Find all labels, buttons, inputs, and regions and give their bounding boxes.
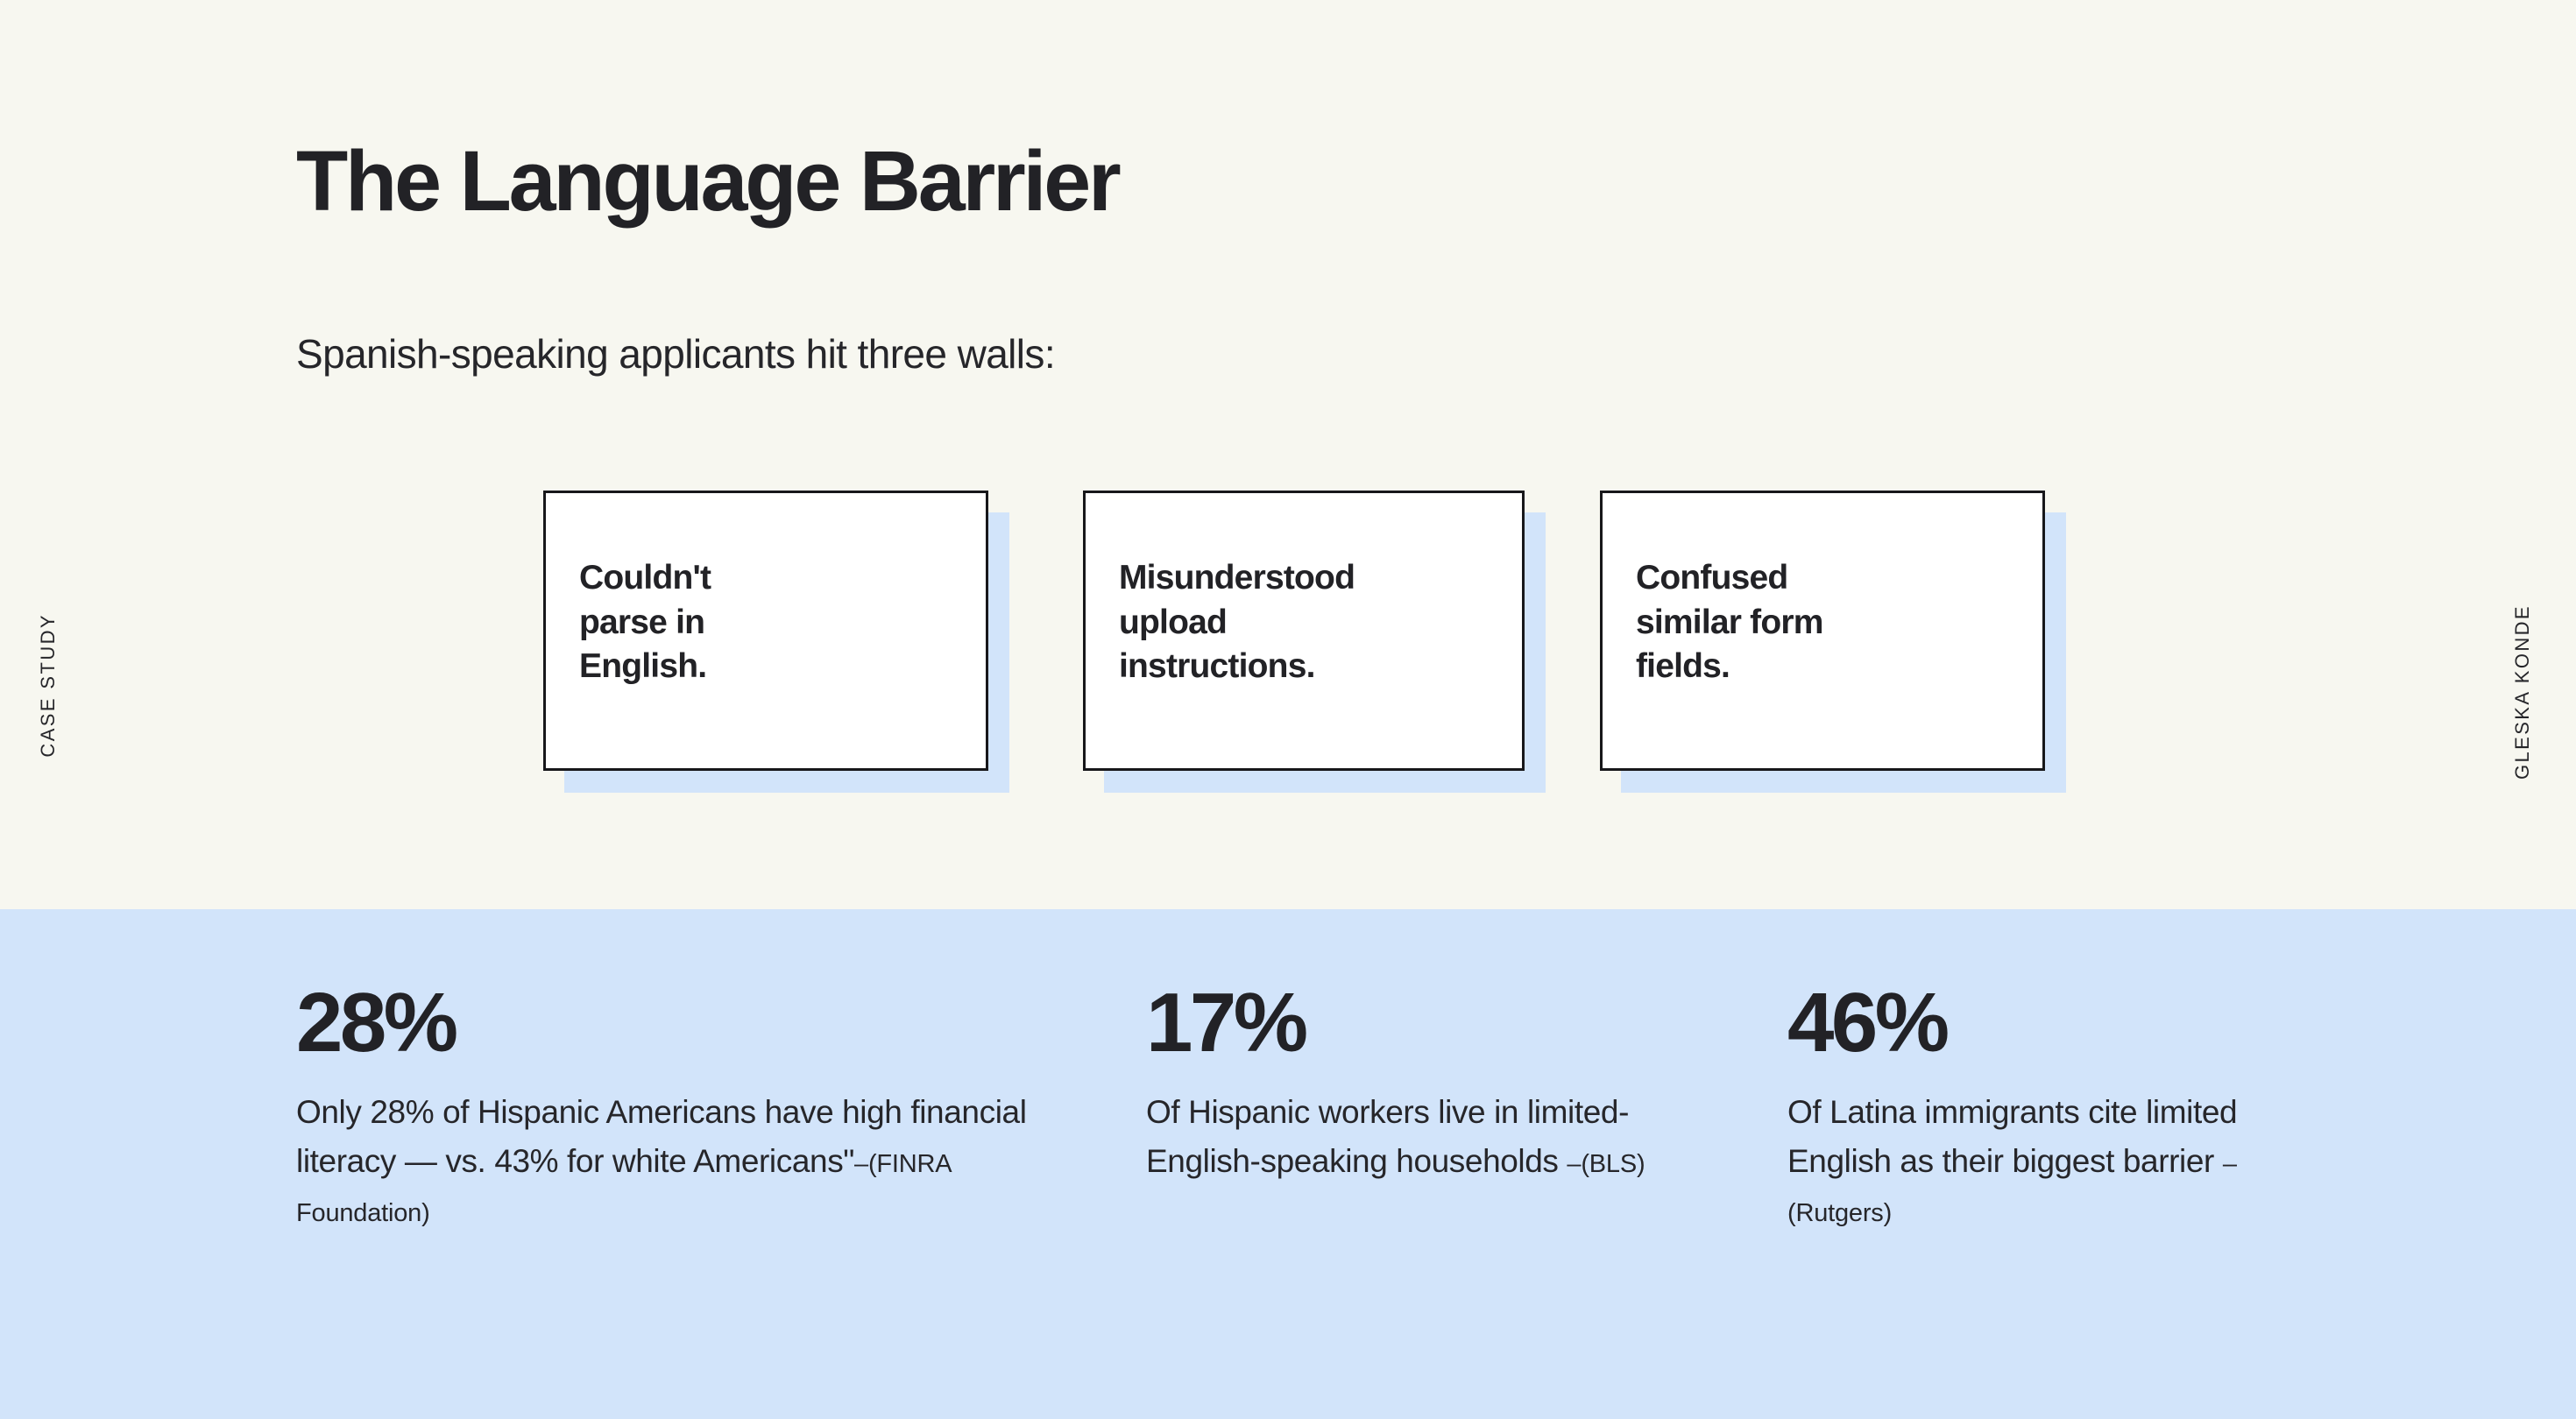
wall-card-text: Confused similar form fields.	[1603, 556, 1853, 689]
stat-block: 17% Of Hispanic workers live in limited-…	[1146, 981, 1689, 1186]
wall-card: Confused similar form fields.	[1600, 491, 2045, 771]
stat-value: 46%	[1787, 981, 2313, 1065]
wall-card-box: Confused similar form fields.	[1600, 491, 2045, 771]
wall-card-box: Couldn't parse in English.	[543, 491, 988, 771]
wall-card-box: Misunderstood upload instructions.	[1083, 491, 1525, 771]
stat-description: Of Latina immigrants cite limited Englis…	[1787, 1088, 2313, 1236]
stat-block: 46% Of Latina immigrants cite limited En…	[1787, 981, 2313, 1236]
stat-block: 28% Only 28% of Hispanic Americans have …	[296, 981, 1067, 1236]
stat-description: Only 28% of Hispanic Americans have high…	[296, 1088, 1067, 1236]
stat-description: Of Hispanic workers live in limited- Eng…	[1146, 1088, 1689, 1186]
wall-card: Misunderstood upload instructions.	[1083, 491, 1525, 771]
wall-card-group: Couldn't parse in English. Misunderstood…	[0, 0, 2576, 909]
wall-card: Couldn't parse in English.	[543, 491, 988, 771]
stat-description-text: Of Hispanic workers live in limited- Eng…	[1146, 1094, 1629, 1179]
wall-card-text: Misunderstood upload instructions.	[1086, 556, 1384, 689]
slide-root: CASE STUDY GLESKA KONDE The Language Bar…	[0, 0, 2576, 1419]
stat-description-text: Of Latina immigrants cite limited Englis…	[1787, 1094, 2237, 1179]
stat-source: –(BLS)	[1567, 1150, 1645, 1178]
stat-value: 28%	[296, 981, 1067, 1065]
stat-value: 17%	[1146, 981, 1689, 1065]
wall-card-text: Couldn't parse in English.	[546, 556, 740, 689]
